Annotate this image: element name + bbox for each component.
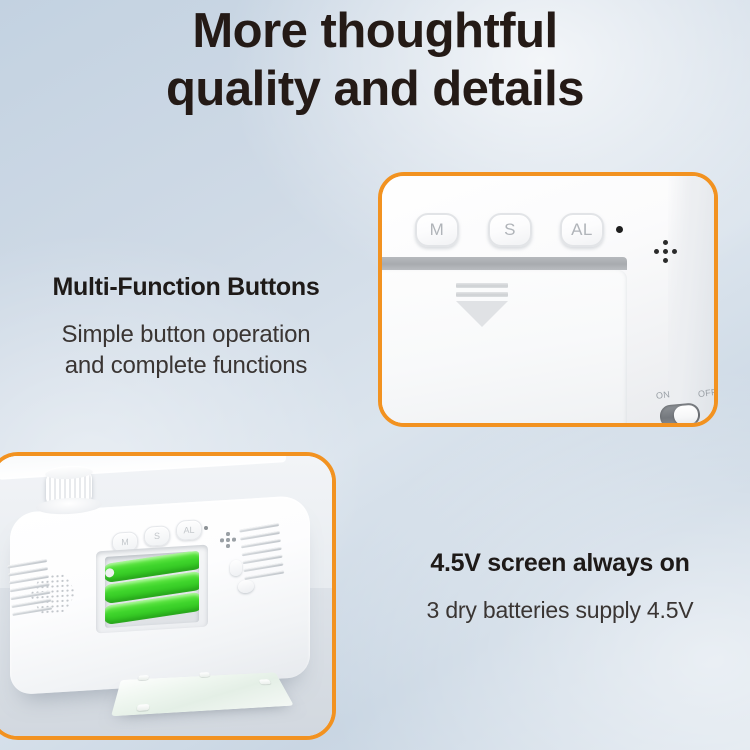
reset-pinhole-icon xyxy=(616,226,623,233)
vent-slots-left xyxy=(7,559,53,621)
power-switch[interactable]: ON OFF xyxy=(654,390,716,403)
feature-title-power: 4.5V screen always on xyxy=(370,548,750,578)
power-switch-off-label: OFF xyxy=(698,387,718,399)
device-button-m-label: M xyxy=(430,220,445,240)
product-photo-battery: M S AL xyxy=(0,452,336,740)
rear-reset-pinhole-icon xyxy=(204,526,208,530)
battery-cover-panel[interactable] xyxy=(378,270,627,427)
battery-compartment xyxy=(96,545,208,634)
rear-button-s-label: S xyxy=(154,531,160,541)
feature-title-buttons: Multi-Function Buttons xyxy=(0,272,372,302)
promo-stage: More thoughtful quality and details Mult… xyxy=(0,0,750,750)
slide-open-arrow-icon xyxy=(456,283,508,327)
rear-button-s[interactable]: S xyxy=(144,525,170,547)
power-switch-knob[interactable] xyxy=(673,404,699,425)
vent-slots-right xyxy=(239,523,285,585)
page-title: More thoughtful quality and details xyxy=(0,2,750,118)
photo-battery-scene: M S AL xyxy=(0,456,332,736)
power-switch-labels: ON OFF xyxy=(654,390,716,403)
battery-cover-lip xyxy=(378,257,627,270)
rear-button-al-label: AL xyxy=(183,525,194,536)
feature-caption-power: 4.5V screen always on 3 dry batteries su… xyxy=(370,548,750,625)
rear-sensor-dot-cluster-icon xyxy=(220,532,236,549)
photo-buttons-scene: M S AL ON xyxy=(382,176,714,423)
feature-subtitle-power: 3 dry batteries supply 4.5V xyxy=(370,595,750,625)
product-photo-buttons: M S AL ON xyxy=(378,172,718,427)
rear-button-al[interactable]: AL xyxy=(176,519,202,541)
power-switch-track[interactable] xyxy=(659,402,701,427)
rear-button-m-label: M xyxy=(121,537,129,547)
device-button-m[interactable]: M xyxy=(415,213,459,247)
feature-subtitle-buttons-line-1: Simple button operation xyxy=(62,321,311,348)
sensor-dot-cluster-icon xyxy=(654,240,678,264)
feature-subtitle-buttons: Simple button operation and complete fun… xyxy=(0,319,372,381)
headline-line-2: quality and details xyxy=(0,60,750,118)
feature-subtitle-buttons-line-2: and complete functions xyxy=(65,352,307,379)
headline-line-1: More thoughtful xyxy=(192,4,557,58)
device-button-al[interactable]: AL xyxy=(560,213,604,247)
device-button-s[interactable]: S xyxy=(488,213,532,247)
device-button-al-label: AL xyxy=(571,220,593,240)
power-switch-on-label: ON xyxy=(655,389,670,401)
device-button-s-label: S xyxy=(504,220,516,240)
feature-caption-buttons: Multi-Function Buttons Simple button ope… xyxy=(0,272,372,381)
battery-well xyxy=(105,551,199,628)
rear-side-button[interactable] xyxy=(230,560,242,577)
